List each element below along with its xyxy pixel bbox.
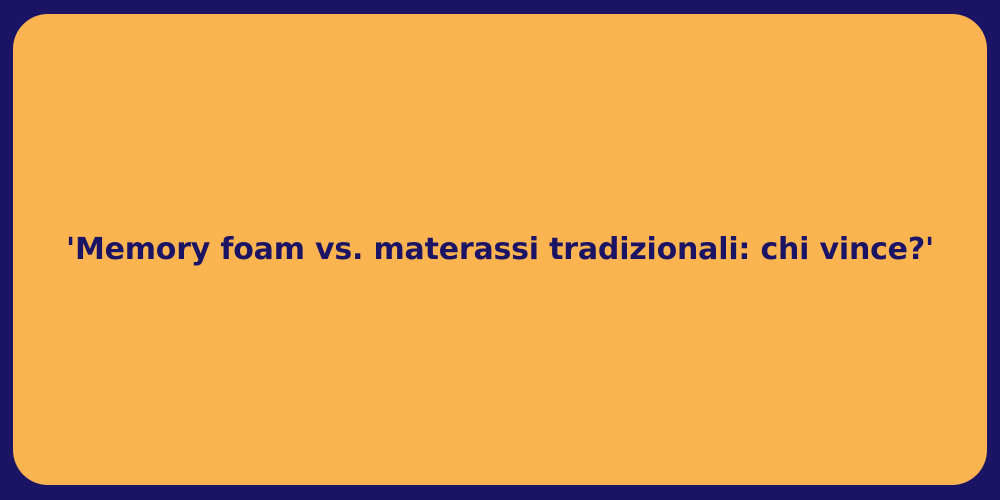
page-frame: 'Memory foam vs. materassi tradizionali:… [0,0,1000,500]
content-card: 'Memory foam vs. materassi tradizionali:… [13,14,987,485]
page-title: 'Memory foam vs. materassi tradizionali:… [66,232,934,268]
